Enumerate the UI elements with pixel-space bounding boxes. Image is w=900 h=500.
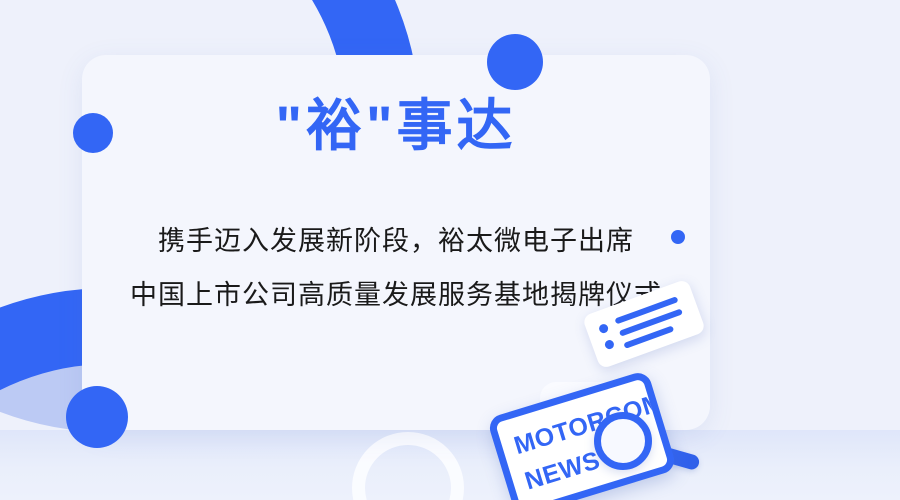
blue-dot-top-decoration [487,34,543,90]
content-card [82,55,710,430]
blue-dot-lower-decoration [66,386,128,448]
bullet-dot-icon [671,230,685,244]
blue-dot-left-decoration [73,113,113,153]
document-bullet-dot [598,323,610,335]
news-poster: "裕"事达 携手迈入发展新阶段，裕太微电子出席 中国上市公司高质量发展服务基地揭… [0,0,900,500]
document-bullet-dot [604,339,616,351]
magnifying-glass-icon [594,412,652,470]
